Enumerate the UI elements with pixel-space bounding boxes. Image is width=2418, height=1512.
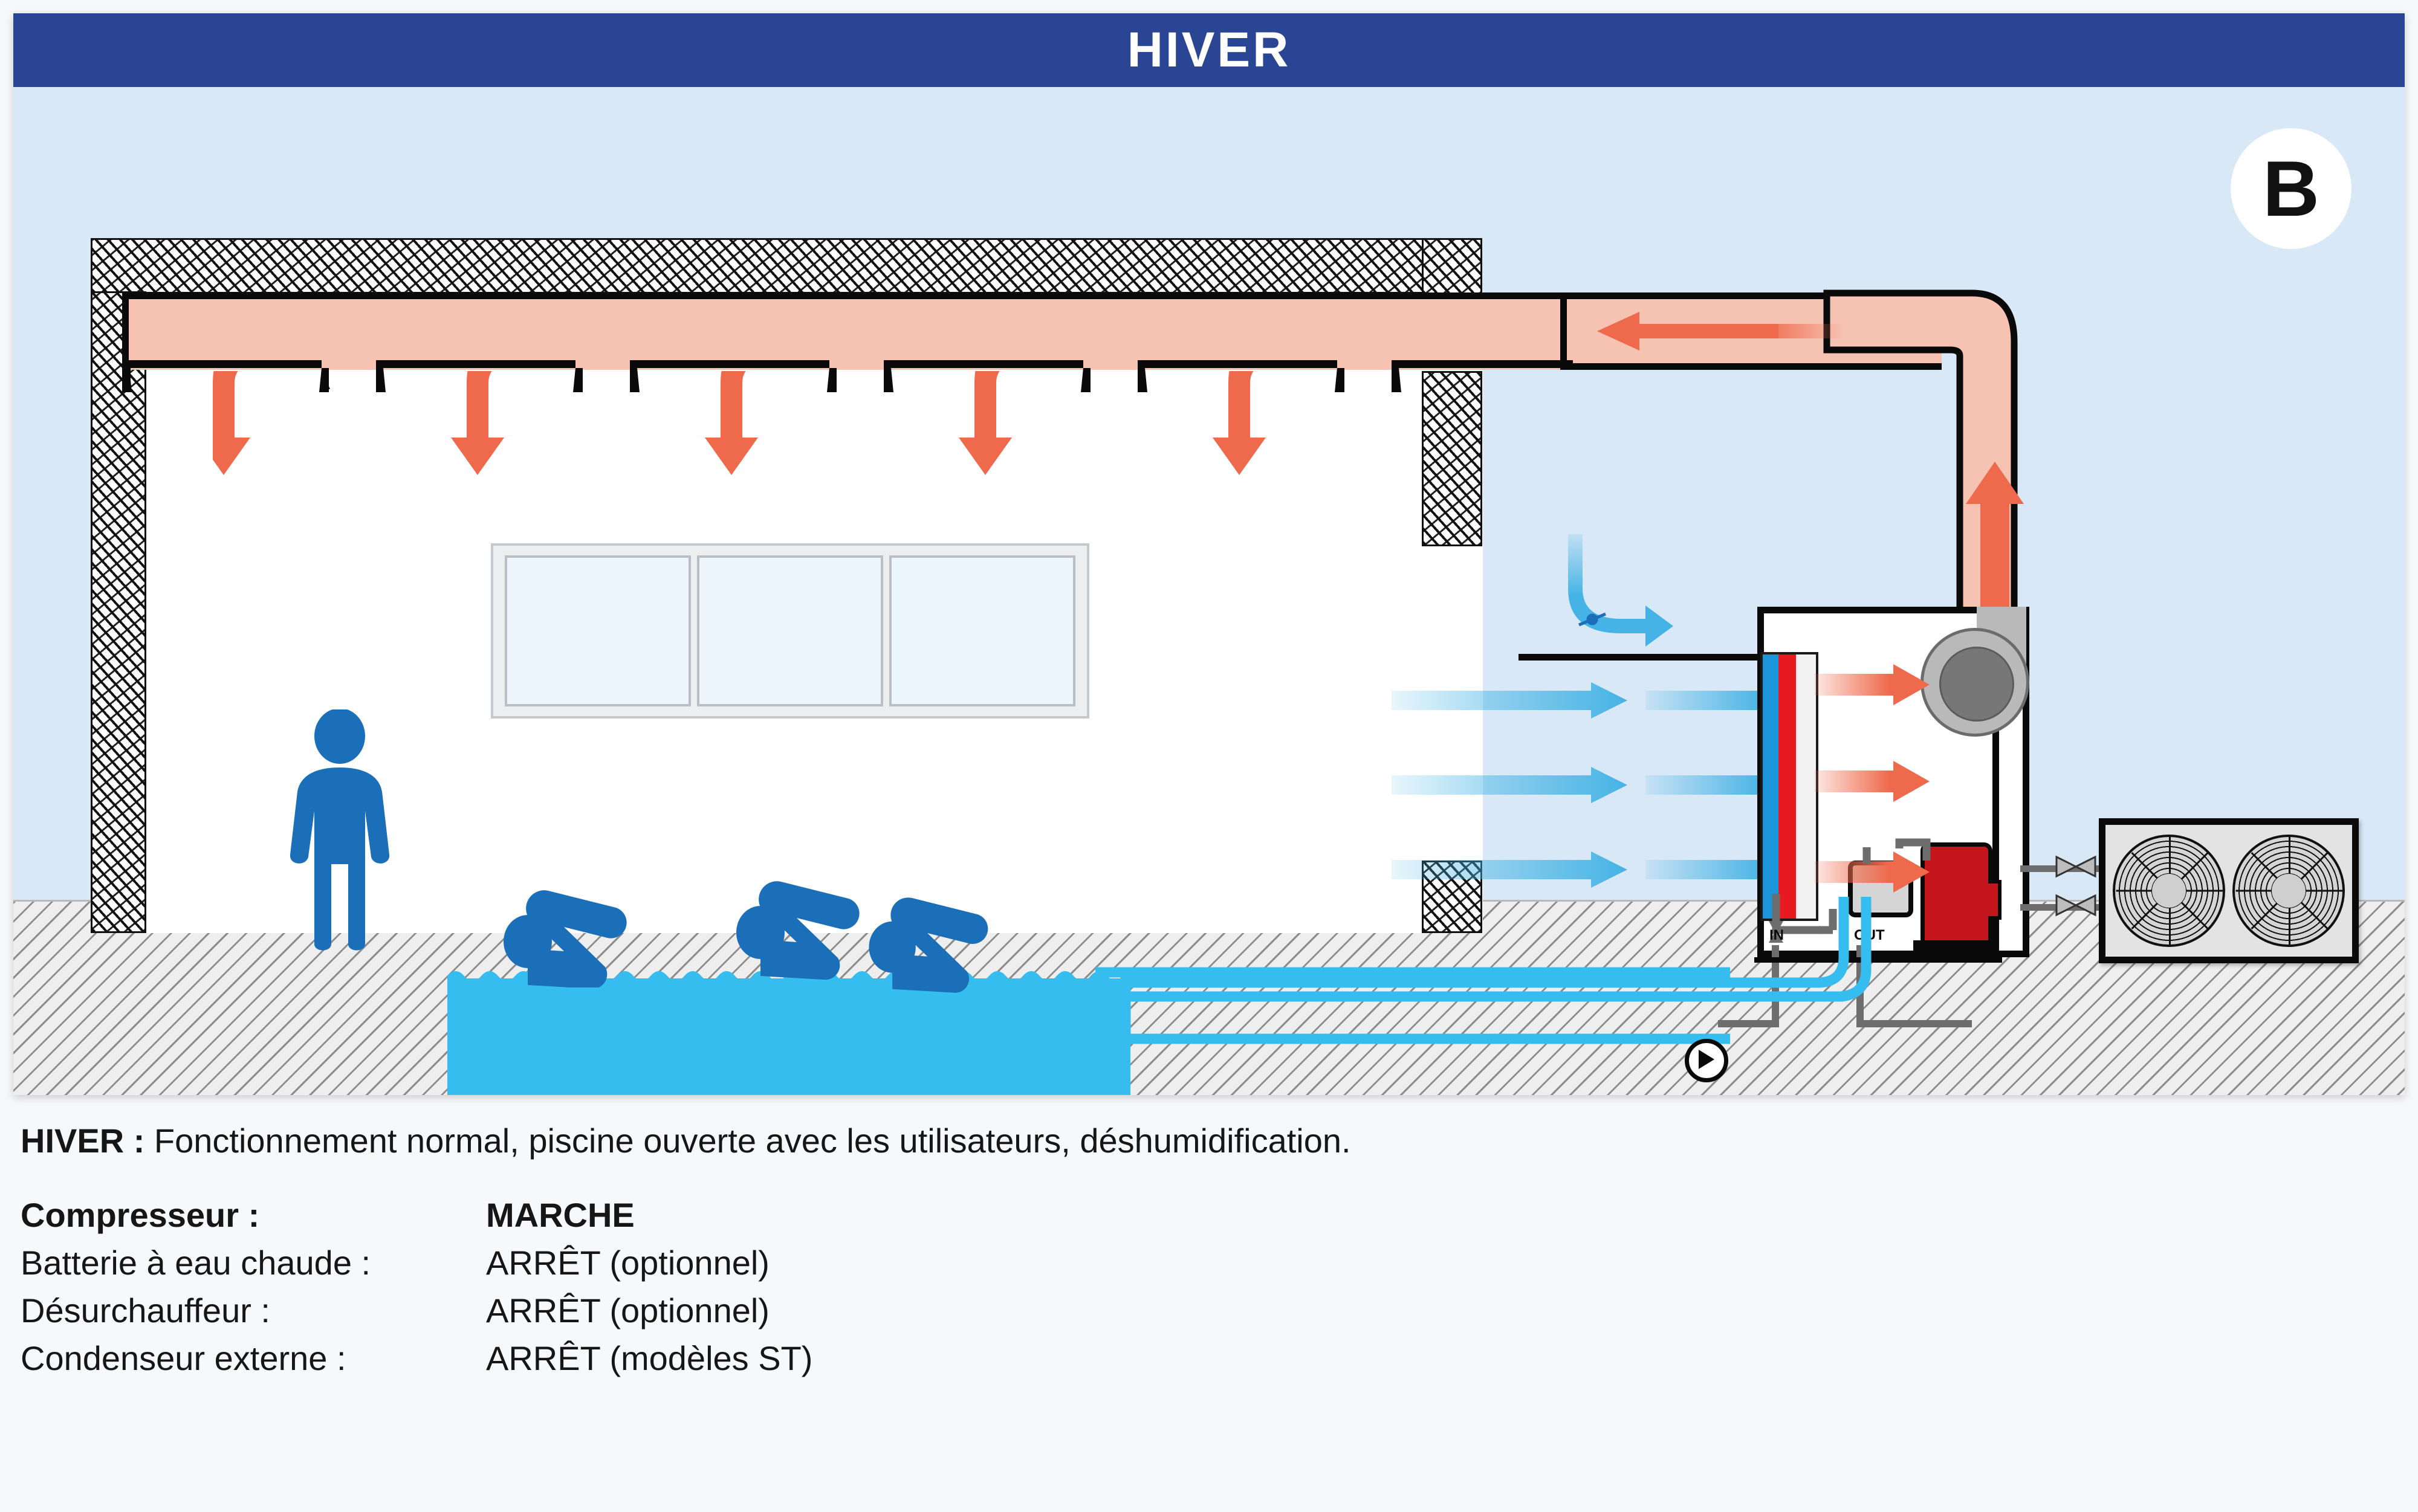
status-row: Condenseur externe :ARRÊT (modèles ST) [21,1339,2378,1378]
window-pane [889,555,1075,706]
status-list: Compresseur :MARCHEBatterie à eau chaude… [21,1195,2378,1378]
badge-label: B [2263,149,2319,228]
status-row-value: MARCHE [486,1195,635,1235]
condenser-fan-icon [2113,835,2225,947]
status-row-label: Condenseur externe : [21,1339,486,1378]
swimming-pool [447,978,1130,1095]
status-row-label: Compresseur : [21,1195,486,1235]
window-pane [697,555,883,706]
roof-insulation [91,238,1481,294]
caption-block: HIVER : Fonctionnement normal, piscine o… [21,1121,2378,1386]
fan-hub [2272,874,2306,908]
person-swimming-icon [860,873,1035,993]
status-row: Compresseur :MARCHE [21,1195,2378,1235]
status-row: Batterie à eau chaude :ARRÊT (optionnel) [21,1243,2378,1282]
caption-text: Fonctionnement normal, piscine ouverte a… [144,1122,1350,1160]
partition-wall-top [1422,238,1482,296]
person-swimming-icon [494,867,675,987]
caption-line: HIVER : Fonctionnement normal, piscine o… [21,1121,2378,1160]
status-row-value: ARRÊT (optionnel) [486,1243,770,1282]
fan-hub [2152,874,2186,908]
pool-water-piping [1089,897,1893,1095]
diagram-title-bar: HIVER [13,13,2405,87]
caption-lead: HIVER : [21,1122,144,1160]
status-row-value: ARRÊT (modèles ST) [486,1339,812,1378]
supply-air-arrows [213,371,1543,510]
diagram-panel: HIVER B [13,13,2405,1095]
service-valve-icons [2052,850,2118,928]
return-air-arrow-horizontal [1597,312,1851,354]
condenser-fan-icon [2232,835,2345,947]
status-row: Désurchauffeur :ARRÊT (optionnel) [21,1291,2378,1330]
intake-grille-left [1519,654,1718,661]
external-condenser-unit [2099,818,2359,963]
window-pane [505,555,691,706]
status-row-label: Batterie à eau chaude : [21,1243,486,1282]
status-row-value: ARRÊT (optionnel) [486,1291,770,1330]
status-row-label: Désurchauffeur : [21,1291,486,1330]
status-badge: B [2231,128,2352,249]
person-standing-icon [279,709,400,951]
fresh-air-intake-arrow [1561,534,1682,655]
supply-air-duct [122,292,1567,370]
diagram-scene: B [13,87,2405,1095]
window [491,543,1089,719]
page-title: HIVER [1127,22,1291,79]
diagram-page: HIVER B [0,0,2418,1512]
circulation-pump-icon [1685,1039,1728,1082]
